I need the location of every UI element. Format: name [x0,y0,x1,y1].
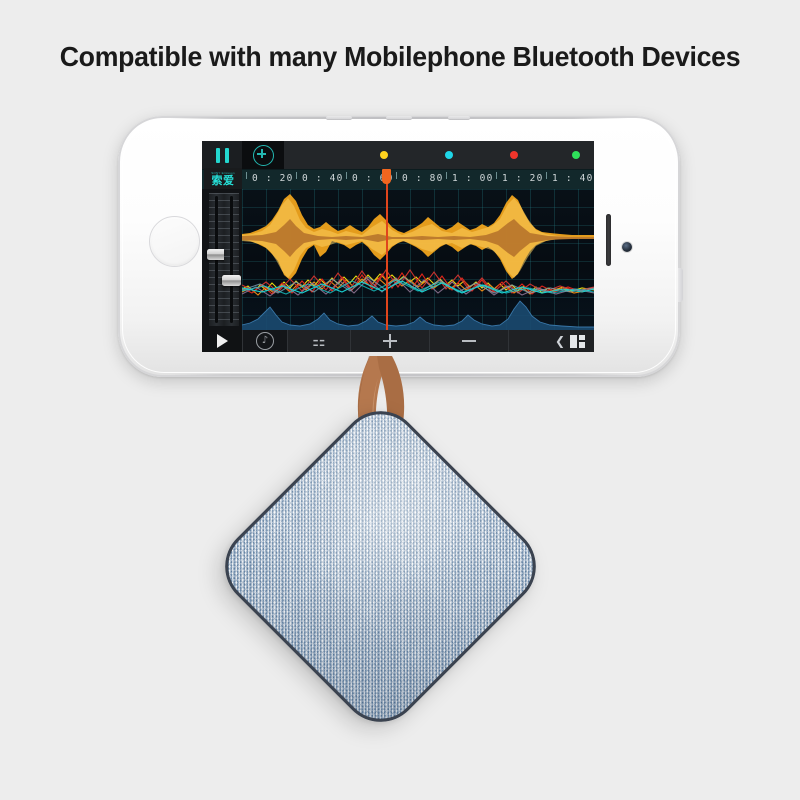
fader-right-thumb[interactable] [222,275,241,286]
earpiece-speaker [606,214,611,266]
spectrum-envelope [242,301,594,330]
speaker-grille [212,399,547,734]
waveform-amber [242,194,594,280]
page-title: Compatible with many Mobilephone Bluetoo… [12,41,788,73]
app-brand-badge: SONY Ericsson 索爱 [204,168,242,190]
pause-icon [216,148,229,163]
fader-left[interactable] [209,193,224,326]
marker-red[interactable] [510,151,518,159]
plus-icon [383,334,397,348]
view-controls[interactable]: ❮ [509,330,594,352]
layout-grid-icon[interactable] [570,335,585,348]
minus-icon [462,340,476,342]
app-top-toolbar [202,141,594,169]
bluetooth-speaker[interactable] [208,395,552,739]
brand-label: 索爱 [212,175,235,187]
playhead-line [386,169,388,330]
ruler-tick-label: 1 : 40 [552,173,594,184]
play-button[interactable] [202,330,243,352]
zoom-out-button[interactable] [430,330,509,352]
phone-screen: SONY Ericsson 索爱 0 : 20 0 : 40 0 : 60 0 … [202,141,594,352]
power-button[interactable] [678,268,683,302]
marker-cyan[interactable] [445,151,453,159]
music-note-icon: ♪ [256,332,274,350]
pause-button[interactable] [202,141,242,169]
product-banner: Compatible with many Mobilephone Bluetoo… [0,0,800,800]
marker-green[interactable] [572,151,580,159]
timeline-ruler[interactable]: SONY Ericsson 索爱 0 : 20 0 : 40 0 : 60 0 … [202,169,594,191]
playhead-handle[interactable] [382,169,391,184]
home-button[interactable] [149,216,200,267]
add-track-button[interactable] [242,141,284,169]
ruler-tick-label: 0 : 40 [302,173,344,184]
marker-strip[interactable] [284,141,594,169]
fader-rail [202,189,242,330]
front-camera [622,242,632,252]
waveform-canvas[interactable] [242,189,594,330]
zoom-in-button[interactable] [351,330,430,352]
play-icon [217,334,228,348]
back-chevron-icon[interactable]: ❮ [555,335,565,347]
volume-up-button[interactable] [326,116,352,120]
app-bottom-toolbar: ♪ ⚏ ❮ [202,330,594,352]
music-library-button[interactable]: ♪ [243,330,288,352]
monitor-button[interactable]: ⚏ [288,330,351,352]
fader-right[interactable] [224,193,239,326]
mute-switch[interactable] [448,116,470,120]
marker-yellow[interactable] [380,151,388,159]
plus-circle-icon [253,145,274,166]
bluetooth-speaker-assembly [200,352,560,772]
volume-down-button[interactable] [386,116,412,120]
ruler-tick-label: 1 : 00 [452,173,494,184]
ruler-tick-label: 1 : 20 [502,173,544,184]
ruler-tick-label: 0 : 80 [402,173,444,184]
smartphone-device: SONY Ericsson 索爱 0 : 20 0 : 40 0 : 60 0 … [118,116,680,377]
headphones-icon: ⚏ [312,334,325,349]
ruler-tick-label: 0 : 20 [252,173,294,184]
fabric-shading [212,399,547,734]
ruler-track[interactable]: 0 : 20 0 : 40 0 : 60 0 : 80 1 : 00 1 : 2… [242,170,594,190]
